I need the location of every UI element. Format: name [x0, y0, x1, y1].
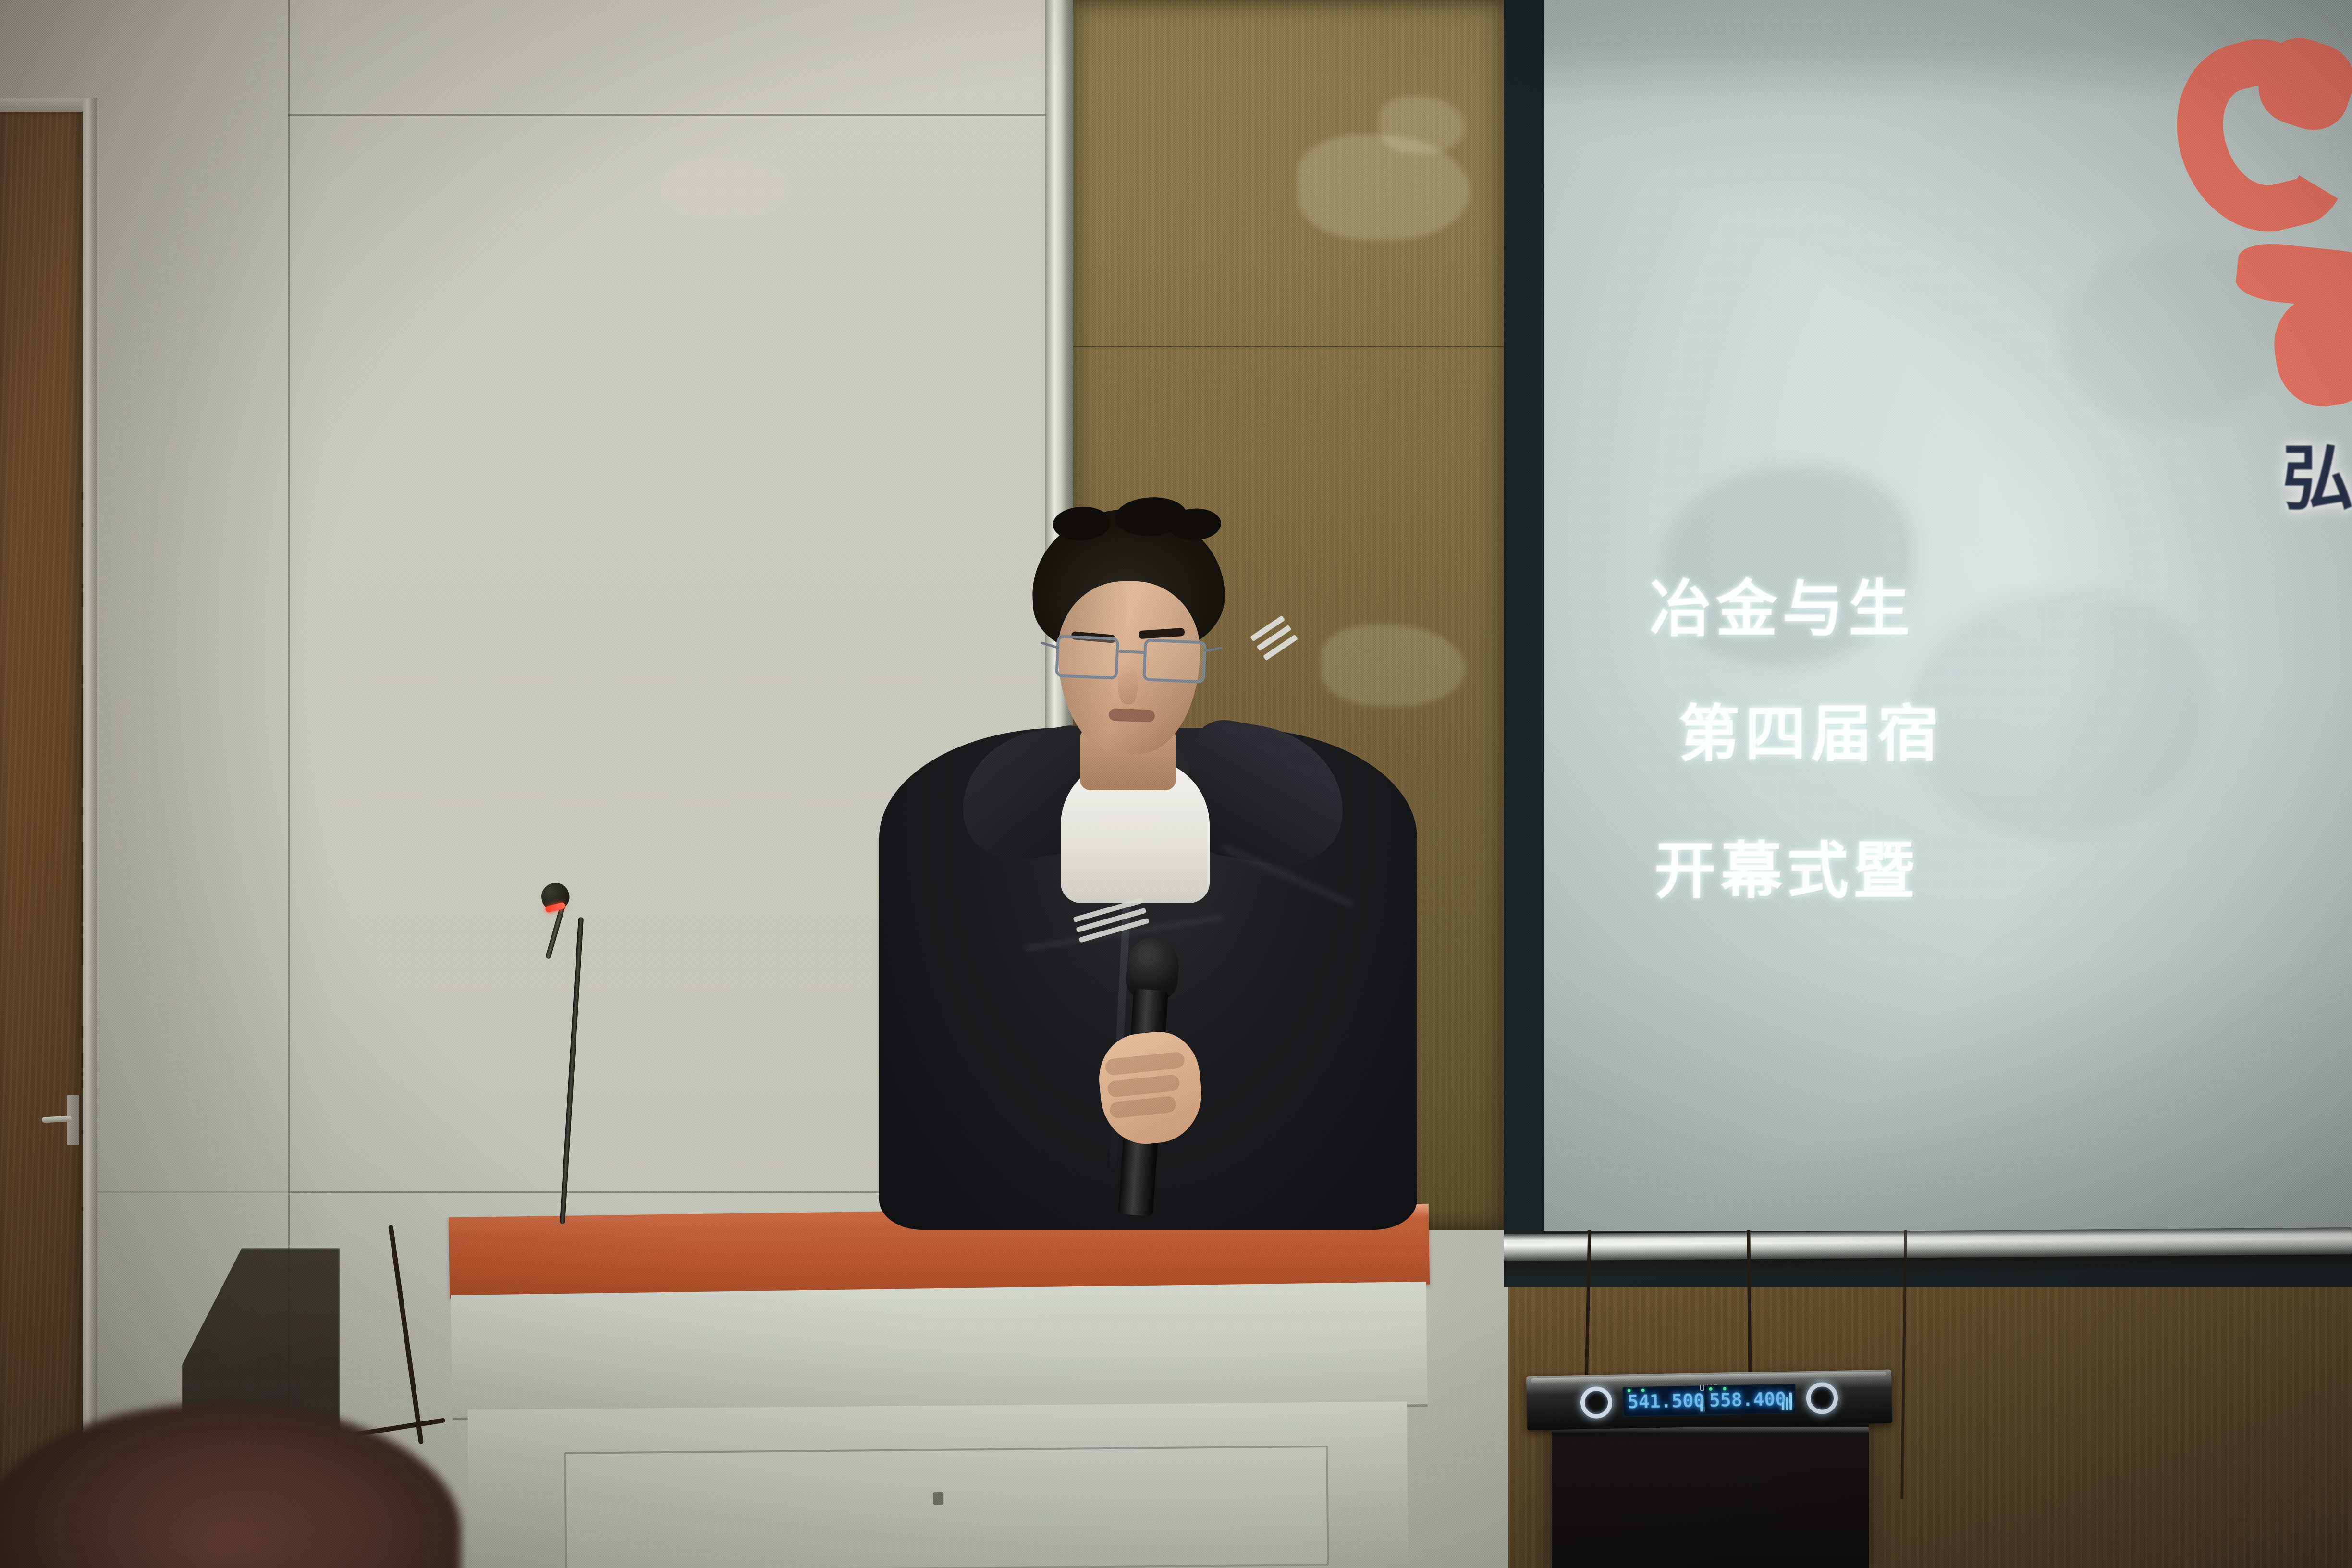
- podium-lectern: [449, 1211, 1453, 1568]
- projection-screen: 弘 冶金与生 第四届宿 开幕式暨: [1504, 0, 2352, 1287]
- speaker-nose: [1118, 664, 1138, 704]
- slide-headline-line-1: 冶金与生: [1650, 579, 1915, 640]
- podium-front-face: [451, 1282, 1427, 1420]
- receiver-display-channel-b: 558.400: [1704, 1384, 1796, 1416]
- door-frame-jamb: [83, 98, 97, 1568]
- door-frame-header: [0, 98, 96, 112]
- wireless-microphone-receiver[interactable]: 541.500 UHF • • 558.400: [1526, 1370, 1892, 1431]
- logo-sub-glyph-icon: 弘: [2282, 443, 2352, 525]
- jacket-sleeve-stripes-right: [1250, 615, 1298, 661]
- speaker-person: [879, 509, 1417, 1230]
- slide-headline-line-2: 第四届宿: [1678, 704, 1944, 765]
- podium-base: [468, 1401, 1409, 1568]
- receiver-frequency-b: 558.400: [1709, 1390, 1787, 1409]
- podium-lock-keyhole: [933, 1492, 943, 1505]
- slide-headline-line-3: 开幕式暨: [1654, 841, 1920, 902]
- door-assembly[interactable]: [0, 98, 96, 1568]
- event-logo-calligraphy-icon: [2179, 41, 2352, 406]
- equipment-rack-case: [1552, 1424, 1869, 1568]
- photo-scene: 弘 冶金与生 第四届宿 开幕式暨 541.500 UHF • • 558.400: [0, 0, 2352, 1568]
- screen-surface: 弘 冶金与生 第四届宿 开幕式暨: [1544, 0, 2352, 1231]
- receiver-frequency-a: 541.500: [1628, 1391, 1705, 1411]
- wooden-door[interactable]: [0, 107, 86, 1568]
- door-handle-lever[interactable]: [46, 1095, 79, 1145]
- speaker-mouth: [1109, 708, 1155, 722]
- gooseneck-microphone[interactable]: [531, 883, 598, 1219]
- podium-recessed-panel: [564, 1445, 1329, 1568]
